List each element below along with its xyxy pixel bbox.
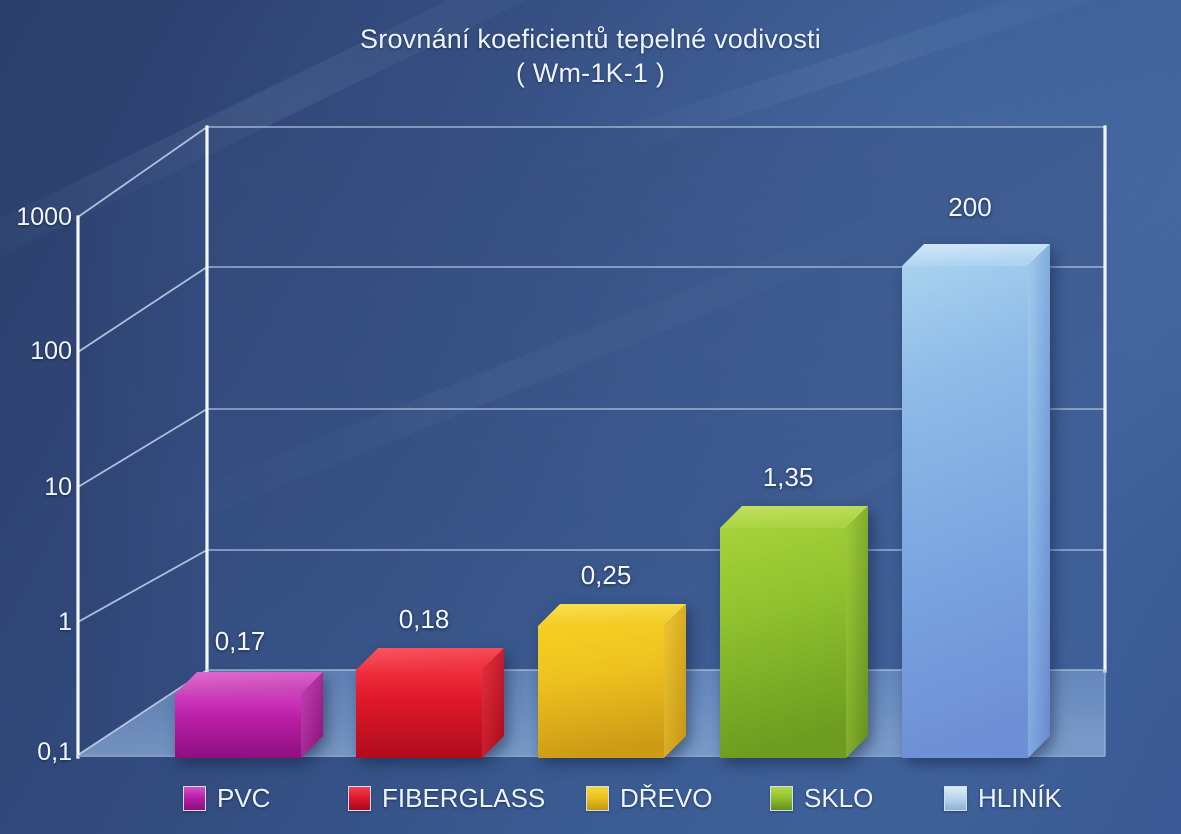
- bar-fiberglass[interactable]: [356, 648, 504, 758]
- legend-swatch-drevo: [586, 786, 609, 811]
- y-tick-10: 10: [0, 475, 72, 500]
- bar-side-face: [664, 604, 686, 758]
- legend-item-hlinik[interactable]: HLINÍK: [944, 778, 1062, 818]
- legend-item-sklo[interactable]: SKLO: [770, 778, 873, 818]
- chart-title-line-2: ( Wm-1K-1 ): [0, 56, 1181, 90]
- bar-value-fiberglass: 0,18: [361, 606, 487, 632]
- bar-top-face: [902, 244, 1050, 266]
- legend-swatch-pvc: [183, 786, 206, 811]
- bar-value-hlinik: 200: [907, 194, 1033, 220]
- bar-top-face: [538, 604, 686, 626]
- bar-pvc[interactable]: [175, 672, 323, 758]
- bar-value-sklo: 1,35: [725, 464, 851, 490]
- bar-top-face: [720, 506, 868, 528]
- legend-item-fiberglass[interactable]: FIBERGLASS: [348, 778, 545, 818]
- chart-title: Srovnání koeficientů tepelné vodivosti (…: [0, 22, 1181, 90]
- bar-front-face: [902, 266, 1028, 758]
- plot-left-wall: [78, 127, 207, 755]
- y-tick-1000: 1000: [0, 205, 72, 230]
- y-tick-100: 100: [0, 339, 72, 364]
- legend-swatch-hlinik: [944, 786, 967, 811]
- bar-front-face: [175, 694, 301, 758]
- background-streak: [114, 184, 960, 549]
- bar-value-drevo: 0,25: [543, 562, 669, 588]
- chart-container: Srovnání koeficientů tepelné vodivosti (…: [0, 0, 1181, 834]
- bar-front-face: [720, 528, 846, 758]
- y-axis-tick-labels: 1000 100 10 1 0,1: [0, 0, 72, 834]
- bar-top-face: [356, 648, 504, 670]
- bar-front-face: [538, 626, 664, 758]
- bar-front-face: [356, 670, 482, 758]
- legend-label-drevo: DŘEVO: [620, 785, 712, 811]
- legend-item-drevo[interactable]: DŘEVO: [586, 778, 712, 818]
- bar-hlinik[interactable]: [902, 244, 1050, 758]
- bar-side-face: [1028, 244, 1050, 758]
- y-tick-1: 1: [0, 610, 72, 635]
- legend-label-hlinik: HLINÍK: [978, 785, 1062, 811]
- legend-label-fiberglass: FIBERGLASS: [382, 785, 545, 811]
- legend-item-pvc[interactable]: PVC: [183, 778, 270, 818]
- bar-side-face: [846, 506, 868, 758]
- depth-gridlines: [78, 127, 207, 755]
- chart-title-line-1: Srovnání koeficientů tepelné vodivosti: [0, 22, 1181, 56]
- bar-sklo[interactable]: [720, 506, 868, 758]
- legend-swatch-sklo: [770, 786, 793, 811]
- legend-swatch-fiberglass: [348, 786, 371, 811]
- bar-value-pvc: 0,17: [180, 628, 300, 654]
- chart-legend: PVC FIBERGLASS DŘEVO SKLO HLINÍK: [0, 772, 1181, 826]
- legend-label-sklo: SKLO: [804, 785, 873, 811]
- y-tick-0-1: 0,1: [0, 740, 72, 765]
- bar-drevo[interactable]: [538, 604, 686, 758]
- legend-label-pvc: PVC: [217, 785, 270, 811]
- bar-top-face: [175, 672, 323, 694]
